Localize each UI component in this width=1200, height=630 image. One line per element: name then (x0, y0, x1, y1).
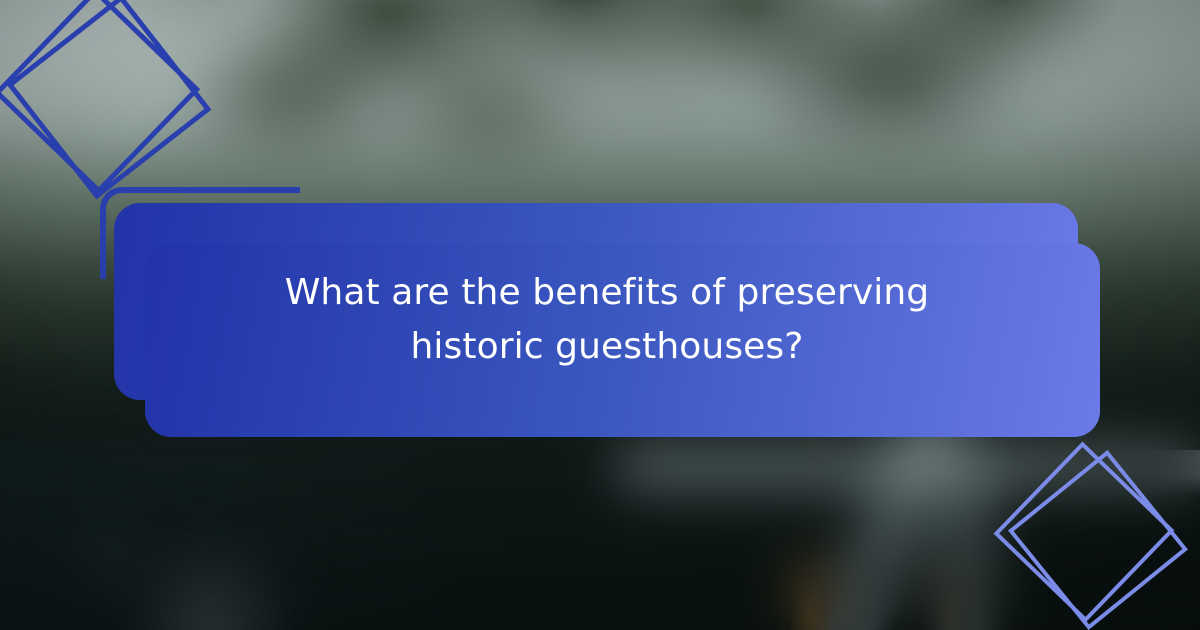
question-card-text-area: What are the benefits of preserving hist… (114, 203, 1100, 437)
share-card-canvas: What are the benefits of preserving hist… (0, 0, 1200, 630)
question-text: What are the benefits of preserving hist… (237, 266, 977, 374)
